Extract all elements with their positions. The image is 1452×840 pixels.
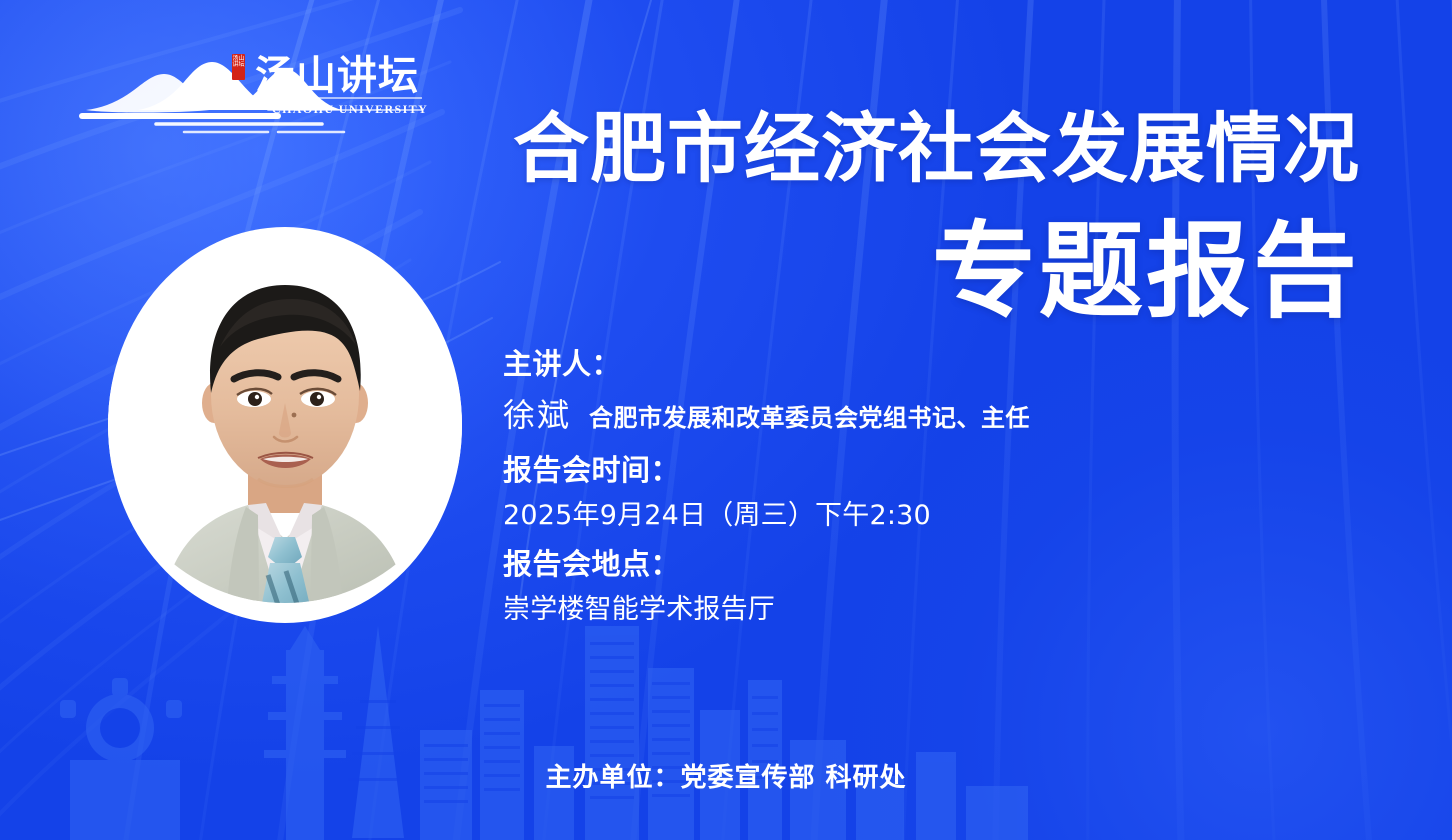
organizer-footer: 主办单位：党委宣传部 科研处 <box>0 757 1452 794</box>
place-value: 崇学楼智能学术报告厅 <box>503 590 1373 629</box>
speaker-label: 主讲人： <box>503 345 1373 384</box>
event-details: 主讲人： 徐斌 合肥市发展和改革委员会党组书记、主任 报告会时间： 2025年9… <box>503 345 1373 639</box>
place-label: 报告会地点： <box>503 545 1373 584</box>
logo-name-en: CHAOHU UNIVERSITY <box>272 103 428 115</box>
event-poster: 汤山讲坛 汤山讲坛 CHAOHU UNIVERSITY 合肥市经济社会发展情况 … <box>0 0 1452 840</box>
time-label: 报告会时间： <box>503 451 1373 490</box>
speaker-row: 徐斌 合肥市发展和改革委员会党组书记、主任 <box>503 396 1373 434</box>
speaker-title: 合肥市发展和改革委员会党组书记、主任 <box>589 404 1030 433</box>
speaker-name: 徐斌 <box>503 396 571 434</box>
time-value: 2025年9月24日（周三）下午2:30 <box>503 496 1373 535</box>
red-seal-icon: 汤山讲坛 <box>232 54 245 80</box>
headline-line-1: 合肥市经济社会发展情况 <box>430 110 1360 188</box>
headline-line-2: 专题报告 <box>430 218 1360 324</box>
speaker-portrait <box>108 227 462 623</box>
poster-headline: 合肥市经济社会发展情况 专题报告 <box>430 110 1360 324</box>
brand-logo: 汤山讲坛 汤山讲坛 CHAOHU UNIVERSITY <box>72 52 422 146</box>
logo-name-cn: 汤山讲坛 <box>255 56 419 96</box>
